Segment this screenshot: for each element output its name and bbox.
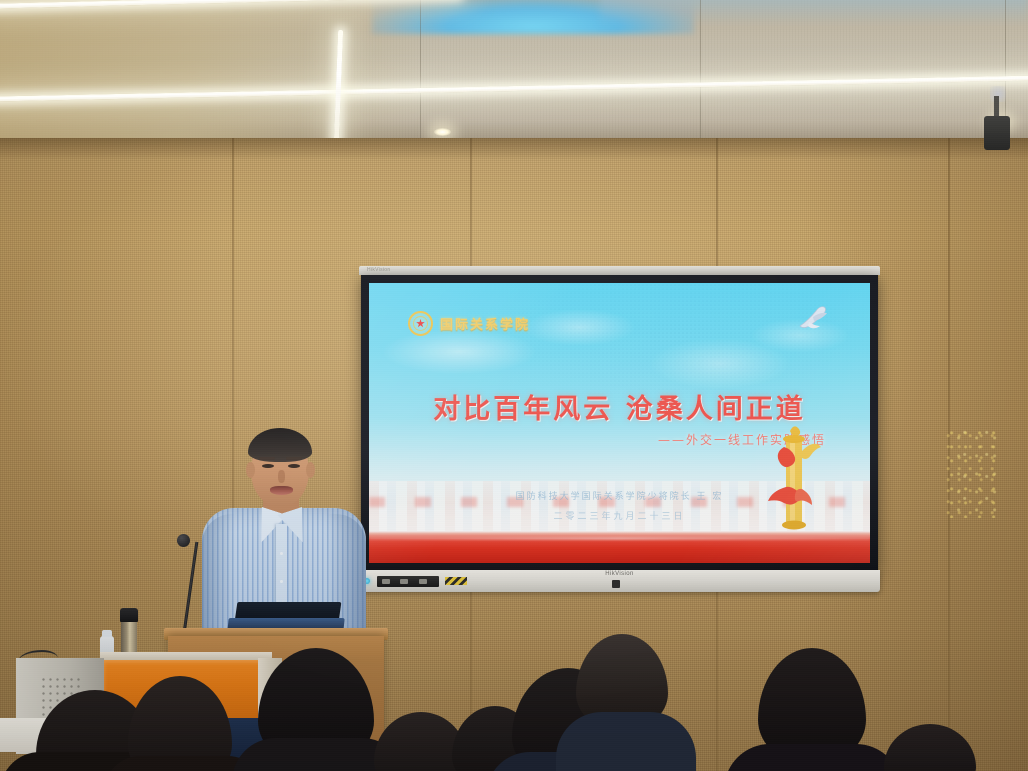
wall-sparkle-highlight — [946, 428, 1000, 518]
presenter-ear-right — [306, 462, 315, 478]
institution-logo-text: 国际关系学院 — [440, 314, 530, 333]
presenter-eye-right — [288, 464, 300, 468]
emblem-icon — [408, 311, 433, 336]
presenter-hair — [248, 428, 312, 462]
display-bezel: 国际关系学院 对比百年风云 沧桑人间正道 ——外交一线工作实践感悟 国防科技 — [361, 275, 878, 570]
usb-port[interactable] — [382, 579, 390, 584]
display-bottom-bezel: HikVision — [359, 570, 880, 592]
audience-shoulders — [724, 744, 902, 771]
slide-screen[interactable]: 国际关系学院 对比百年风云 沧桑人间正道 ——外交一线工作实践感悟 国防科技 — [369, 283, 870, 563]
lecture-hall-photo: HikVision 国际关系学院 — [0, 0, 1028, 771]
ceiling-seam — [420, 0, 421, 140]
shirt-button — [280, 552, 283, 555]
ceiling-seam — [700, 0, 701, 140]
ceiling-warm-wash — [0, 0, 420, 142]
display-top-label: HikVision — [367, 267, 390, 273]
presenter-eye-left — [262, 464, 274, 468]
warning-label-icon — [445, 577, 467, 585]
display-io-ports[interactable] — [377, 576, 439, 587]
slide-red-band — [369, 531, 870, 563]
usb-port[interactable] — [419, 579, 427, 584]
camera-body — [984, 116, 1010, 150]
wall-top-shadow — [0, 138, 1028, 160]
display-top-bezel: HikVision — [359, 266, 880, 275]
presenter-mouth — [270, 486, 293, 495]
institution-logo: 国际关系学院 — [408, 311, 530, 336]
wall-camera-icon — [984, 96, 1010, 154]
huabiao-column-icon — [762, 417, 824, 535]
presenter-eyebrow-left — [259, 457, 275, 460]
interactive-display-panel[interactable]: HikVision 国际关系学院 — [359, 266, 880, 586]
presenter-ear-left — [246, 462, 255, 478]
presenter-eyebrow-right — [286, 457, 302, 460]
microphone-icon — [177, 534, 190, 547]
dove-icon — [796, 305, 830, 331]
hdmi-port[interactable] — [400, 579, 408, 584]
shirt-button — [280, 580, 283, 583]
thermos-cap — [120, 608, 138, 622]
power-button[interactable] — [612, 580, 620, 588]
ceiling-blue-haze — [600, 0, 1028, 26]
camera-bracket — [994, 96, 999, 118]
ceiling-downlight — [434, 128, 451, 136]
water-bottle-cap — [102, 630, 112, 637]
audience-shoulders — [556, 712, 696, 771]
presenter-nose — [278, 470, 285, 483]
ceiling — [0, 0, 1028, 142]
